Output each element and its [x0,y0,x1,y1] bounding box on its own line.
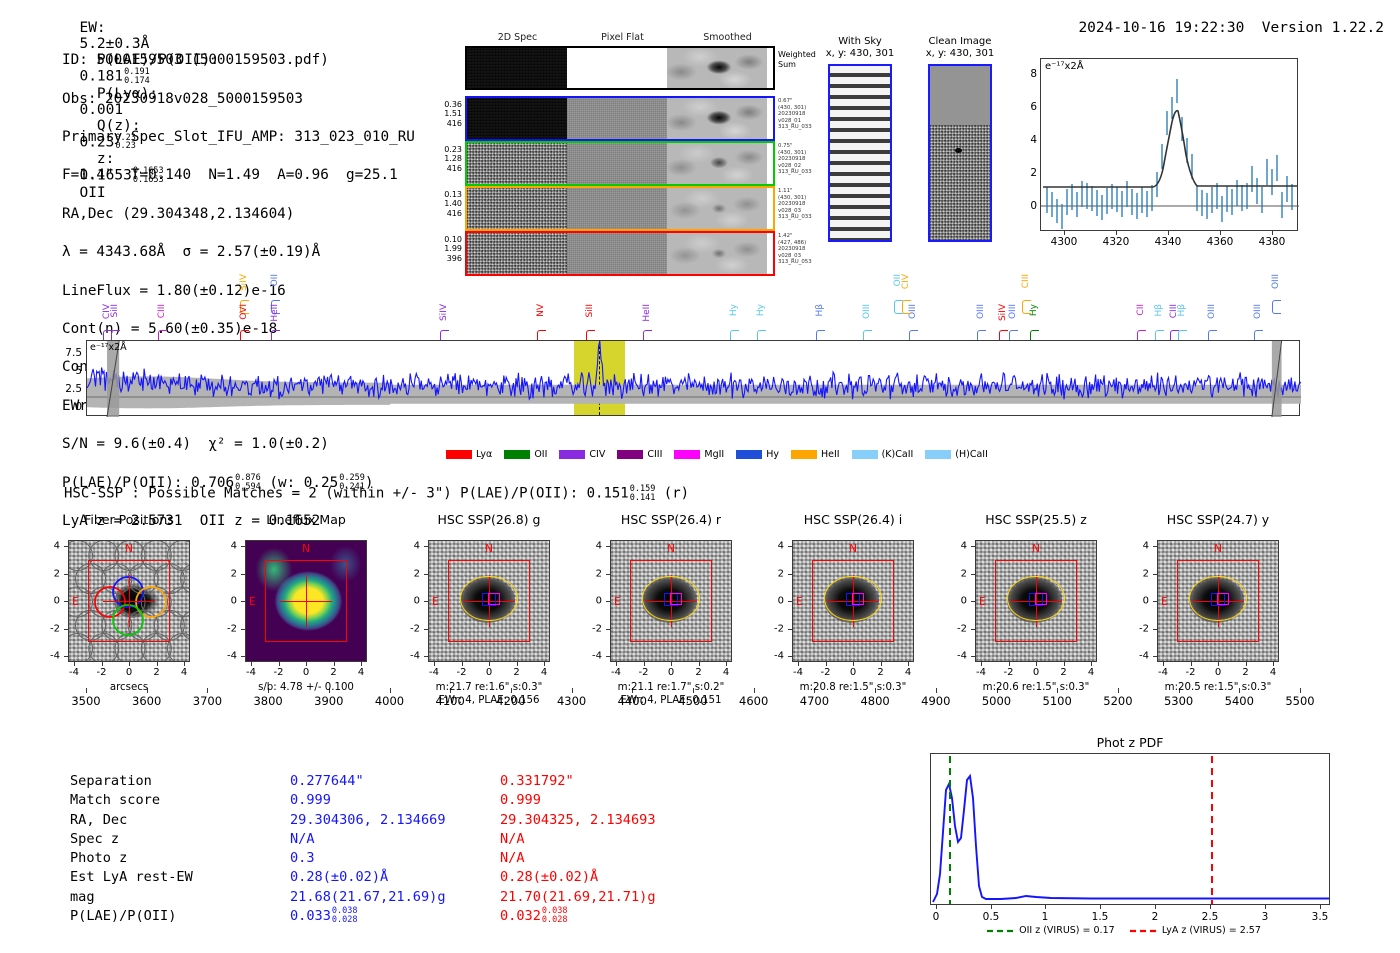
info-seeing: F=1.4" T=0.140 N=1.49 A=0.96 g=25.1 [62,166,416,185]
match-table-cell: Est LyA rest-EW [70,868,193,887]
legend-label: Lyα [476,449,492,460]
cutout-ytick: -2 [584,623,602,634]
cutout-xtick: -2 [97,667,107,678]
photz-pdf-section: Phot z PDF 0 0.5 1 1.5 2 2.5 3 3.5 OII z… [930,735,1330,935]
timestamp-version: 2024-10-16 19:22:30 Version 1.22.2 [1061,4,1384,36]
cutout-image[interactable]: NE [428,540,550,662]
spectrum-legend: LyαOIICIVCIIIMgIIHyHeII(K)CaII(H)CaII [446,444,1000,463]
spec2d-row-left-label: 0.231.28416 [430,145,462,173]
cutout-xtick-mark [1009,662,1010,666]
timestamp: 2024-10-16 19:22:30 [1078,20,1244,36]
spectrum-ytick: 5 [52,365,82,377]
compass-east-label: E [979,596,986,608]
cutout-xtick: 2 [1060,667,1066,678]
cutout-ytick-mark [424,546,428,547]
cutout-xtick-mark [671,662,672,666]
weighted-sum-label: Weighted Sum [778,50,816,70]
cutout-xtick: -4 [1158,667,1168,678]
crosshair-vertical [306,575,307,628]
legend-swatch [791,450,817,459]
compass-east-label: E [72,596,79,608]
photz-plot: 0 0.5 1 1.5 2 2.5 3 3.5 [930,753,1330,905]
cutout-ytick: 2 [949,568,967,579]
cutout-ytick: -2 [219,623,237,634]
detection-box-magenta [670,593,682,605]
spec2d-row [465,96,775,141]
spectrum-legend-item: CIII [617,449,662,460]
spectrum-legend-item: (H)CaII [925,449,988,460]
info-obs: Obs: 20230918v028_5000159503 [62,90,416,109]
legend-swatch [559,450,585,459]
match-table-cell: N/A [500,849,525,868]
cutout-ytick: 2 [1131,568,1149,579]
cutout-ytick-mark [788,656,792,657]
match-table-cell: 29.304306, 2.134669 [290,811,446,830]
compass-east-label: E [614,596,621,608]
photz-legend-item: OII z (VIRUS) = 0.17 [987,925,1115,936]
cutout-ytick: 0 [584,596,602,607]
spectrum-line-label: Hy [1029,304,1039,316]
cutout-ytick: -2 [949,623,967,634]
spec2d-row [465,141,775,186]
cutout-ytick: -4 [402,651,420,662]
cutout-xtick-mark [462,662,463,666]
with-sky-caption: With Skyx, y: 430, 301 [815,36,905,60]
cutout-xtick: 2 [153,667,159,678]
match-table-cell: 21.68(21.67,21.69)g [290,888,446,907]
match-table-cell: 29.304325, 2.134693 [500,811,656,830]
cutout-ytick-mark [1153,574,1157,575]
match-table-cell: N/A [290,830,315,849]
legend-swatch [736,450,762,459]
cutout-xtick: 2 [877,667,883,678]
cutout-xlabel: m:20.8 re:1.5" s:0.3" [766,682,940,695]
cutout-xtick-mark [798,662,799,666]
match-table-cell: 0.999 [500,791,541,810]
cutout-xtick-mark [74,662,75,666]
cutout-xtick-mark [489,662,490,666]
legend-swatch [674,450,700,459]
cutout-xtick: -4 [429,667,439,678]
cutout-xtick-mark [102,662,103,666]
match-table-cell: 0.999 [290,791,331,810]
legend-label: (H)CaII [955,449,988,460]
linefit-xtick: 4380 [1259,236,1286,248]
cutout-ytick: 2 [219,568,237,579]
cutout-title: HSC SSP(26.4) r [588,512,754,527]
legend-label: (K)CaII [882,449,914,460]
cutout-ytick-mark [971,629,975,630]
cutout-ytick-mark [241,601,245,602]
cutout-ytick: 4 [42,541,60,552]
cutout-xtick-mark [434,662,435,666]
spectrum-legend-item: MgII [674,449,724,460]
linefit-xtick: 4360 [1207,236,1234,248]
compass-north-label: N [1214,543,1222,555]
cutout-ytick-mark [971,546,975,547]
linefit-ytick: 4 [1021,134,1037,146]
cutout-xtick-mark [184,662,185,666]
cutout-xtick-mark [1246,662,1247,666]
spec2d-row [465,186,775,231]
cutout-ytick: -4 [949,651,967,662]
cutout-ytick: 4 [766,541,784,552]
cutout-xlabel: m:21.7 re:1.6" s:0.3" [402,682,576,695]
compass-east-label: E [432,596,439,608]
crosshair-vertical [129,575,130,628]
cutout-xtick-mark [826,662,827,666]
cutout-xtick-mark [1163,662,1164,666]
cutout-xtick-mark [1273,662,1274,666]
photz-xtick: 3 [1262,911,1269,923]
cutout-xtick: 2 [513,667,519,678]
cutout-ytick: 4 [949,541,967,552]
cutout-xtick: -4 [69,667,79,678]
compass-north-label: N [1032,543,1040,555]
col-header-2dspec: 2D Spec [465,32,570,43]
cutout-ytick-mark [606,574,610,575]
spectrum-line-label: OII [270,274,280,286]
oii-dash-icon [987,926,1015,936]
legend-label: CIV [589,449,605,460]
cutout-ytick-mark [64,656,68,657]
cutout-title: HSC SSP(26.8) g [406,512,572,527]
spectrum-line-label: Hβ [1154,304,1164,317]
detection-box-magenta [488,593,500,605]
weighted-sum-row [465,46,775,90]
match-table-cell: 0.28(±0.02)Å [290,868,388,887]
cutout-xtick: 0 [1033,667,1039,678]
cutout-xtick-mark [306,662,307,666]
cutout-ytick-mark [606,546,610,547]
spec2d-row-right-label: 1.11" (430, 301) 20230918 v028_03 313_RU… [778,188,812,221]
cutout-xtick: -2 [457,667,467,678]
cutout-ytick-mark [1153,601,1157,602]
spectrum-line-label: Hβ [815,304,825,317]
spectrum-line-label: SiIV [439,304,449,321]
compass-north-label: N [125,543,133,555]
cutout-title: HSC SSP(25.5) z [953,512,1119,527]
match-table-cell: mag [70,888,95,907]
spec2d-row-left-label: 0.131.40416 [430,190,462,218]
cutout-xtick: 0 [850,667,856,678]
clean-image [928,64,992,242]
photz-xtick: 2 [1152,911,1159,923]
cutout-xtick-mark [251,662,252,666]
cutout-xtick: 4 [723,667,729,678]
cutout-xtick: 0 [303,667,309,678]
spectrum-canvas [87,341,1301,417]
photz-legend: OII z (VIRUS) = 0.17 LyA z (VIRUS) = 2.5… [930,925,1330,939]
cutout-sublabel: EWr: 4, PLAE: 0.151 [584,695,758,708]
compass-north-label: N [485,543,493,555]
spectrum-legend-item: CIV [559,449,605,460]
photz-xtick: 3.5 [1312,911,1329,923]
cutout-ytick: 0 [219,596,237,607]
info-lambda: λ = 4343.68Å σ = 2.57(±0.19)Å [62,243,416,262]
cutout-ytick-mark [424,656,428,657]
cutout-ytick-mark [241,656,245,657]
cutout-xtick: 2 [330,667,336,678]
match-table-cell: 0.28(±0.02)Å [500,868,598,887]
compass-north-label: N [667,543,675,555]
cutout-xtick-mark [157,662,158,666]
cutout-image[interactable]: NE [1157,540,1279,662]
cutout-image[interactable]: NE [610,540,732,662]
spectrum-line-label: OIII [1207,304,1217,319]
line-id-labels: CIVSiIICIIISiIVOVIOIIHeIISiIVNVSiIIHeIIH… [0,272,1400,340]
cutout-ytick-mark [606,601,610,602]
col-header-pixelflat: Pixel Flat [570,32,675,43]
cutout-xtick: 4 [181,667,187,678]
cutout-ytick-mark [1153,546,1157,547]
version-label: Version 1.22.2 [1262,20,1384,36]
spectrum-line-label: SiII [585,304,595,318]
cutout-ytick-mark [64,629,68,630]
spec2d-row [465,231,775,276]
spec2d-row-right-label: 1.42" (427, 486) 20230918 v028_03 313_RU… [778,233,812,266]
cutout-xtick-mark [908,662,909,666]
match-table-cell: 21.70(21.69,21.71)g [500,888,656,907]
with-sky-image [828,64,892,242]
spectrum-yunit: e⁻¹⁷x2Å [90,342,127,353]
line-fit-plot: e⁻¹⁷x2Å [1040,58,1298,231]
photz-title: Phot z PDF [930,735,1330,750]
spectrum-line-label: SiIV [239,274,249,291]
spectrum-line-label: OII [893,274,903,286]
spectrum-line-label: OIII [1253,304,1263,319]
spectrum-line-bracket [894,300,903,314]
cutout-ytick-mark [1153,629,1157,630]
cutout-xtick: 0 [1215,667,1221,678]
info-id: ID: 5000159503 (5000159503.pdf) [62,51,416,70]
cutout-ytick-mark [1153,656,1157,657]
spectrum-ytick: 0 [52,401,82,413]
legend-label: OII [534,449,547,460]
spectrum-legend-item: (K)CaII [852,449,914,460]
match-table-cell: 0.331792" [500,772,574,791]
cutout-ytick: -4 [219,651,237,662]
cutout-ytick-mark [64,574,68,575]
cutout-xtick: 2 [1242,667,1248,678]
cutout-ytick-mark [424,601,428,602]
cutout-ytick-mark [788,601,792,602]
cutout-title: Lineflux Map [223,512,389,527]
legend-swatch [504,450,530,459]
spectrum-line-label: CIII [157,304,167,318]
linefit-xtick: 4300 [1051,236,1078,248]
cutout-title: HSC SSP(24.7) y [1135,512,1301,527]
photz-xtick: 2.5 [1202,911,1219,923]
cutout-ytick: 4 [1131,541,1149,552]
cutout-xtick: -4 [976,667,986,678]
spectrum-line-label: SiII [110,304,120,318]
cutout-xtick-mark [726,662,727,666]
hsc-header: HSC-SSP : Possible Matches = 2 (within +… [64,485,689,503]
cutout-xlabel: m:20.5 re:1.5" s:0.3" [1131,682,1305,695]
spectrum-line-label: CIII [1021,274,1031,288]
cutout-xtick-mark [279,662,280,666]
legend-label: HeII [821,449,840,460]
cutout-title: Fiber Positions [46,512,212,527]
cutout-ytick-mark [606,629,610,630]
cutout-ytick-mark [788,574,792,575]
photz-xtick: 0 [933,911,940,923]
cutout-ytick: 2 [584,568,602,579]
linefit-ytick: 6 [1021,101,1037,113]
cutout-xtick-mark [544,662,545,666]
cutout-ytick-mark [788,546,792,547]
cutout-xtick: 4 [541,667,547,678]
spec2d-montage: 2D Spec Pixel Flat Smoothed Weighted Sum… [430,32,770,267]
spectrum-legend-item: HeII [791,449,840,460]
cutout-ytick: -4 [1131,651,1149,662]
cutout-ytick: -2 [402,623,420,634]
legend-swatch [446,450,472,459]
compass-east-label: E [1161,596,1168,608]
cutout-ytick-mark [424,629,428,630]
cutout-xtick: -4 [611,667,621,678]
cutout-ytick-mark [606,656,610,657]
cutout-panel-row: Fiber PositionsNE-4-2024420-2-4arcsecsLi… [0,512,1400,722]
cutout-xtick-mark [1064,662,1065,666]
cutout-ytick-mark [64,601,68,602]
cutout-xtick-mark [517,662,518,666]
cutout-xtick: -2 [1004,667,1014,678]
linefit-ytick: 8 [1021,68,1037,80]
spectrum-ytick: 7.5 [52,347,82,359]
spectrum-line-label: OVI [239,304,249,320]
cutout-xtick: -2 [821,667,831,678]
photz-canvas [931,754,1331,906]
cutout-ytick: -4 [42,651,60,662]
spec2d-row-left-label: 0.361.51416 [430,100,462,128]
legend-label: Hy [766,449,779,460]
spec2d-row-right-label: 0.67" (430, 301) 20230918 v028_01 313_RU… [778,98,812,131]
detection-box-magenta [852,593,864,605]
spectrum-line-label: Hβ [1177,304,1187,317]
cutout-ytick: 0 [402,596,420,607]
cutout-image[interactable]: NE [975,540,1097,662]
cutout-image[interactable]: NE [68,540,190,662]
spectrum-line-bracket [902,300,911,314]
cutout-xtick: -2 [639,667,649,678]
match-table-cell: 0.0320.0380.028 [500,907,568,926]
cutout-xtick: 4 [1088,667,1094,678]
cutout-xtick: 0 [126,667,132,678]
linefit-ytick: 0 [1021,200,1037,212]
legend-swatch [852,450,878,459]
cutout-ytick: -2 [42,623,60,634]
cutout-xtick: -4 [793,667,803,678]
spectrum-line-label: OIII [1271,274,1281,289]
legend-swatch [617,450,643,459]
cutout-xtick-mark [981,662,982,666]
photz-xtick: 0.5 [983,911,1000,923]
linefit-xtick: 4340 [1155,236,1182,248]
cutout-xtick-mark [1036,662,1037,666]
cutout-image[interactable]: NE [245,540,367,662]
detection-box-magenta [1035,593,1047,605]
compass-north-label: N [302,543,310,555]
full-spectrum-plot: e⁻¹⁷x2Å [86,340,1300,416]
cutout-xtick: 4 [905,667,911,678]
spectrum-line-label: Hy [729,304,739,316]
cutout-ytick: -4 [584,651,602,662]
photz-legend-item: LyA z (VIRUS) = 2.57 [1130,925,1261,936]
cutout-ytick: 0 [766,596,784,607]
compass-north-label: N [849,543,857,555]
cutout-xlabel: arcsecs [42,682,216,695]
spectrum-line-label: Hy [756,304,766,316]
cutout-sublabel: EWr: 4, PLAE: 0.156 [402,695,576,708]
compass-east-label: E [796,596,803,608]
cutout-xtick-mark [129,662,130,666]
cutout-ytick: 0 [949,596,967,607]
cutout-ytick: 4 [219,541,237,552]
cutout-xtick-mark [644,662,645,666]
full-spectrum-section: CIVSiIICIIISiIVOVIOIIHeIISiIVNVSiIIHeIIH… [0,272,1400,472]
photz-xtick: 1 [1042,911,1049,923]
cutout-xtick-mark [334,662,335,666]
match-table-cell: Match score [70,791,160,810]
cutout-xtick-mark [853,662,854,666]
spectrum-legend-item: OII [504,449,547,460]
cutout-ytick-mark [64,546,68,547]
cutout-ytick: -4 [766,651,784,662]
cutout-xtick-mark [361,662,362,666]
match-table-cell: 0.277644" [290,772,364,791]
cutout-ytick-mark [241,629,245,630]
cutout-xlabel: m:21.1 re:1.7" s:0.2" [584,682,758,695]
cutout-xtick-mark [881,662,882,666]
cutout-ytick: -2 [766,623,784,634]
cutout-xlabel: m:20.6 re:1.5" s:0.3" [949,682,1123,695]
spectrum-line-bracket [1272,300,1281,314]
cutout-xtick: -4 [246,667,256,678]
legend-label: MgII [704,449,724,460]
cutout-ytick: 4 [584,541,602,552]
match-table-cell: Separation [70,772,152,791]
photz-xtick: 1.5 [1092,911,1109,923]
cutout-ytick-mark [971,601,975,602]
match-table-cell: Photo z [70,849,127,868]
cutout-ytick: 4 [402,541,420,552]
linefit-xtick: 4320 [1103,236,1130,248]
legend-label: CIII [647,449,662,460]
cutout-ytick: 0 [42,596,60,607]
spec2d-row-left-label: 0.101.99396 [430,235,462,263]
cutout-xtick: -2 [1186,667,1196,678]
spectrum-legend-item: Hy [736,449,779,460]
cutout-xtick-mark [1218,662,1219,666]
cutout-xtick: 4 [358,667,364,678]
line-fit-canvas [1041,59,1299,232]
cutout-xtick-mark [699,662,700,666]
col-header-smoothed: Smoothed [675,32,780,43]
cutout-ytick-mark [241,546,245,547]
cutout-title: HSC SSP(26.4) i [770,512,936,527]
cutout-ytick-mark [424,574,428,575]
spectrum-ytick: 2.5 [52,383,82,395]
legend-swatch [925,450,951,459]
cutout-xlabel: s/b: 4.78 +/- 0.100 [219,682,393,695]
cutout-image[interactable]: NE [792,540,914,662]
match-table-cell: P(LAE)/P(OII) [70,907,176,926]
spec2d-row-right-label: 0.75" (430, 301) 20230918 v028_02 313_RU… [778,143,812,176]
cutout-ytick: 2 [42,568,60,579]
spectrum-line-label: HeII [270,304,280,322]
